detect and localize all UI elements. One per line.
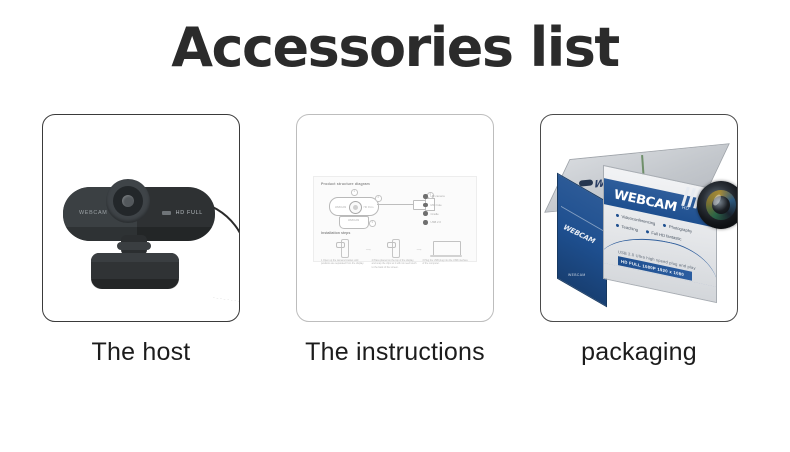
step-illustration-3 [422,237,469,259]
webcam-base-shadow [91,279,179,289]
structure-diagram: WEBCAM HD FULL WEBCAM 1 2 3 4 HD camera [321,189,469,229]
webcam-illustration: WEBCAM HD FULL [43,115,239,321]
installation-step: 3 Plug the USB plug into the USB interfa… [422,237,469,269]
arrow-icon: ⟶ [416,248,421,252]
installation-steps: ⟶ 1 Open up the camera bracket until pos… [321,237,469,269]
diagram-legend: HD camera MIC hole Cradle USB 2.0 [423,194,467,229]
box-front-face: WEBCAM HD Videoconferencing Photography … [603,165,717,303]
diagram-camera-base: WEBCAM [339,216,369,229]
webcam-hinge-ring [117,242,151,250]
step-text: 1 Open up the camera bracket until posit… [321,259,368,266]
feature-item: Photography [663,223,692,234]
legend-item: HD camera [423,194,467,199]
accessory-card-packaging[interactable]: WEBCAM WEBCAM WEBCAM WEBCAM HD Vi [540,114,738,322]
diagram-label-right: HD FULL [364,206,374,209]
instruction-heading-installation: Installation steps [321,231,469,235]
box-side-footer: WEBCAM [568,273,586,277]
box-side-brand: WEBCAM [562,223,596,245]
caption-host: The host [42,338,240,367]
packaging-box-illustration: WEBCAM WEBCAM WEBCAM WEBCAM HD Vi [547,141,733,301]
step-text: 3 Plug the USB plug into the USB interfa… [422,259,469,266]
webcam-lens-glass [122,195,134,207]
box-lens-graphic [697,181,738,229]
feature-item: Teaching [616,223,638,233]
camera-icon [336,242,345,248]
legend-marker-icon [423,203,428,208]
legend-item: Cradle [423,211,467,216]
webcam-brand-label: WEBCAM [79,210,107,216]
installation-step: ⟶ 1 Open up the camera bracket until pos… [321,237,368,269]
installation-step: ⟶ 2 Place placed on the top of the displ… [372,237,419,269]
arrow-icon: ⟶ [366,248,371,252]
legend-label: USB 2.0 [431,220,441,224]
page-title: Accessories list [0,18,790,77]
diagram-callout-3: 3 [369,220,376,227]
diagram-camera-lens-inner [353,205,358,210]
legend-marker-icon [423,211,428,216]
diagram-callout-2: 2 [375,195,382,202]
accessory-card-host[interactable]: WEBCAM HD FULL [42,114,240,322]
webcam-base-top [91,253,179,262]
webcam-base [91,253,179,289]
legend-marker-icon [423,220,428,225]
webcam-indicator-led [162,211,171,215]
accessory-card-instructions[interactable]: Product structure diagram WEBCAM HD FULL… [296,114,494,322]
instruction-heading-structure: Product structure diagram [321,182,469,186]
diagram-label-left: WEBCAM [335,206,346,209]
step-illustration-1: ⟶ [321,237,368,259]
webcam-spec-label: HD FULL [176,210,203,216]
legend-label: Cradle [431,212,439,216]
step-illustration-2: ⟶ [372,237,419,259]
webcam-lens-ring [113,186,143,216]
diagram-callout-1: 1 [351,189,358,196]
accessories-card-row: WEBCAM HD FULL Product structure diagram [0,114,790,324]
legend-label: MIC hole [431,203,442,207]
legend-marker-icon [423,194,428,199]
diagram-camera-body: WEBCAM HD FULL [329,197,379,216]
step-text: 2 Place placed on the top of the display… [372,259,419,269]
instruction-sheet: Product structure diagram WEBCAM HD FULL… [313,176,477,262]
diagram-camera-lens [349,201,362,214]
legend-item: USB 2.0 [423,220,467,225]
legend-item: MIC hole [423,203,467,208]
legend-label: HD camera [431,194,445,198]
camera-icon [387,242,396,248]
diagram-base-label: WEBCAM [348,219,359,222]
laptop-base-icon [430,255,462,257]
webcam-lens-housing [106,179,150,223]
caption-packaging: packaging [540,338,738,367]
caption-instructions: The instructions [296,338,494,367]
